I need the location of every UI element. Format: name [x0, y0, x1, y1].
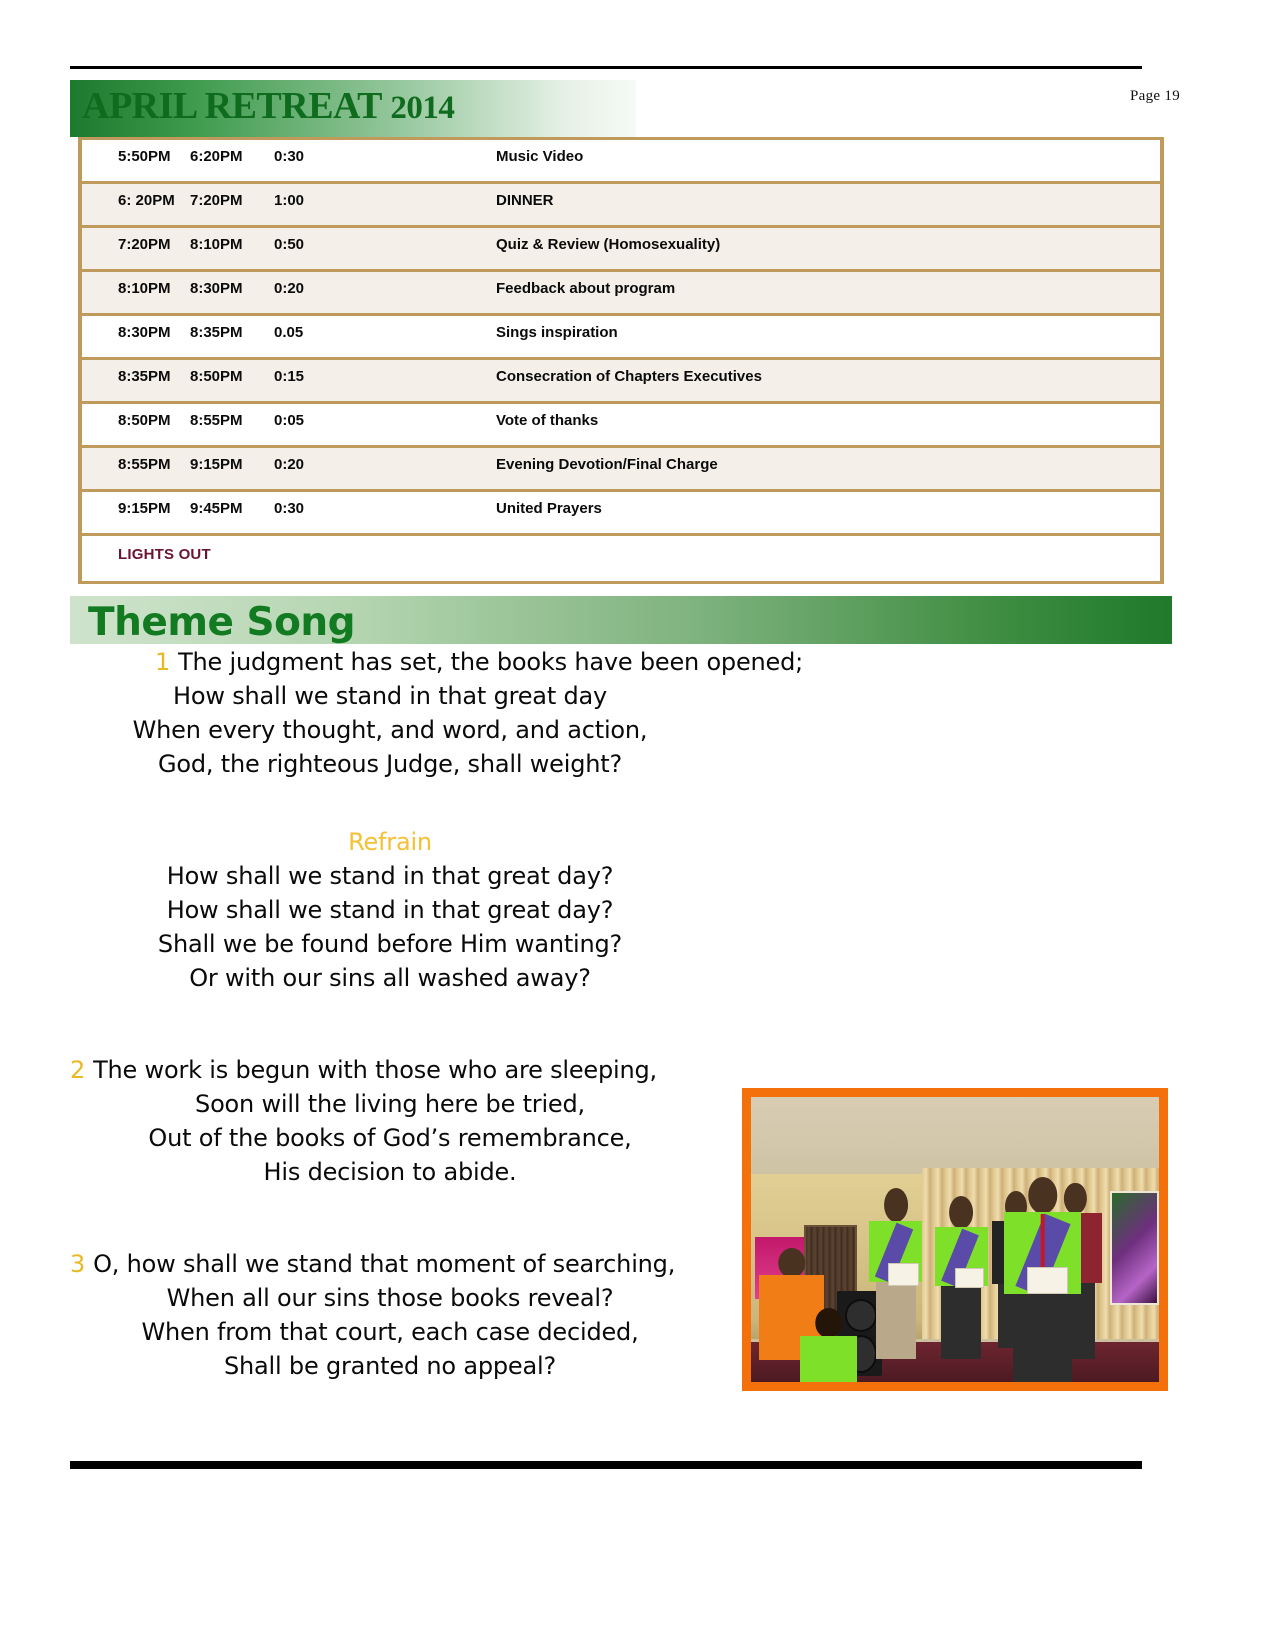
- photo-person-legs: [876, 1282, 916, 1359]
- photo-songsheet: [955, 1268, 985, 1288]
- cell-start-time: 9:15PM: [82, 500, 190, 517]
- photo-person: [800, 1308, 857, 1382]
- cell-duration: 0:50: [274, 236, 496, 253]
- schedule-table: 5:50PM6:20PM0:30Music Video6: 20PM7:20PM…: [78, 137, 1164, 584]
- lights-out-label: LIGHTS OUT: [82, 546, 211, 563]
- table-row: 8:50PM8:55PM0:05Vote of thanks: [82, 404, 1160, 448]
- lyric-line: Shall be granted no appeal?: [60, 1349, 720, 1383]
- cell-start-time: 8:55PM: [82, 456, 190, 473]
- table-row: 5:50PM6:20PM0:30Music Video: [82, 140, 1160, 184]
- photo-person-legs: [941, 1286, 981, 1359]
- table-row: 6: 20PM7:20PM1:00DINNER: [82, 184, 1160, 228]
- footer-rule: [70, 1461, 1142, 1469]
- page-title-main: APRIL RETREAT: [82, 85, 381, 127]
- lyric-text: The judgment has set, the books have bee…: [178, 648, 803, 676]
- cell-end-time: 6:20PM: [190, 148, 274, 165]
- cell-end-time: 7:20PM: [190, 192, 274, 209]
- lyric-line: How shall we stand in that great day?: [60, 893, 720, 927]
- refrain-label: Refrain: [60, 825, 720, 859]
- retreat-photo: [742, 1088, 1168, 1391]
- verse-1: 1The judgment has set, the books have be…: [60, 645, 720, 781]
- lyric-text: O, how shall we stand that moment of sea…: [93, 1250, 675, 1278]
- photo-person-head: [1028, 1177, 1057, 1214]
- cell-end-time: 8:55PM: [190, 412, 274, 429]
- lyric-line: How shall we stand in that great day?: [60, 859, 720, 893]
- cell-duration: 0.05: [274, 324, 496, 341]
- document-page: Page 19 APRIL RETREAT 2014 5:50PM6:20PM0…: [0, 0, 1275, 1650]
- cell-end-time: 8:30PM: [190, 280, 274, 297]
- cell-end-time: 8:35PM: [190, 324, 274, 341]
- lyric-line: Out of the books of God’s remembrance,: [60, 1121, 720, 1155]
- cell-duration: 1:00: [274, 192, 496, 209]
- table-row: 8:35PM8:50PM0:15Consecration of Chapters…: [82, 360, 1160, 404]
- photo-lanyard: [1040, 1214, 1045, 1271]
- table-row-lights-out: LIGHTS OUT: [82, 536, 1160, 581]
- table-row: 9:15PM9:45PM0:30United Prayers: [82, 492, 1160, 536]
- spacer: [60, 995, 720, 1053]
- cell-start-time: 7:20PM: [82, 236, 190, 253]
- cell-duration: 0:05: [274, 412, 496, 429]
- lyric-line: Soon will the living here be tried,: [60, 1087, 720, 1121]
- cell-start-time: 8:10PM: [82, 280, 190, 297]
- lyric-line: His decision to abide.: [60, 1155, 720, 1189]
- lyric-line: Shall we be found before Him wanting?: [60, 927, 720, 961]
- cell-end-time: 8:10PM: [190, 236, 274, 253]
- cell-end-time: 9:45PM: [190, 500, 274, 517]
- lyric-line: When from that court, each case decided,: [60, 1315, 720, 1349]
- verse-number: 2: [70, 1056, 85, 1084]
- page-title: APRIL RETREAT 2014: [82, 84, 454, 128]
- page-title-year: 2014: [390, 90, 454, 126]
- lyric-line: 2The work is begun with those who are sl…: [60, 1053, 720, 1087]
- cell-end-time: 8:50PM: [190, 368, 274, 385]
- page-number: Page 19: [1130, 88, 1180, 105]
- photo-person-head: [884, 1188, 908, 1222]
- cell-start-time: 8:35PM: [82, 368, 190, 385]
- cell-activity: DINNER: [496, 192, 1160, 209]
- cell-duration: 0:20: [274, 280, 496, 297]
- verse-number: 3: [70, 1250, 85, 1278]
- photo-songsheet: [1027, 1267, 1068, 1294]
- cell-activity: Evening Devotion/Final Charge: [496, 456, 1160, 473]
- photo-songsheet: [888, 1263, 919, 1286]
- verse-number: 1: [155, 648, 170, 676]
- cell-start-time: 5:50PM: [82, 148, 190, 165]
- photo-ceiling: [751, 1097, 1159, 1174]
- cell-end-time: 9:15PM: [190, 456, 274, 473]
- cell-activity: United Prayers: [496, 500, 1160, 517]
- cell-activity: Feedback about program: [496, 280, 1160, 297]
- cell-activity: Vote of thanks: [496, 412, 1160, 429]
- verse-3: 3O, how shall we stand that moment of se…: [60, 1247, 720, 1383]
- photo-person-torso: [800, 1336, 857, 1382]
- cell-activity: Sings inspiration: [496, 324, 1160, 341]
- photo-person-foreground: [1004, 1177, 1082, 1382]
- theme-song-lyrics: 1The judgment has set, the books have be…: [60, 645, 720, 1383]
- refrain-block: Refrain How shall we stand in that great…: [60, 825, 720, 995]
- table-row: 8:30PM8:35PM0.05Sings inspiration: [82, 316, 1160, 360]
- lyric-line: God, the righteous Judge, shall weight?: [60, 747, 720, 781]
- lyric-line: 3O, how shall we stand that moment of se…: [60, 1247, 720, 1281]
- photo-person: [869, 1188, 922, 1359]
- lyric-line: When all our sins those books reveal?: [60, 1281, 720, 1315]
- lyric-line: When every thought, and word, and action…: [60, 713, 720, 747]
- cell-duration: 0:20: [274, 456, 496, 473]
- cell-duration: 0:15: [274, 368, 496, 385]
- spacer: [60, 781, 720, 825]
- lyric-line: 1The judgment has set, the books have be…: [60, 645, 720, 679]
- cell-start-time: 8:30PM: [82, 324, 190, 341]
- cell-start-time: 8:50PM: [82, 412, 190, 429]
- table-row: 8:55PM9:15PM0:20Evening Devotion/Final C…: [82, 448, 1160, 492]
- cell-start-time: 6: 20PM: [82, 192, 190, 209]
- photo-person-head: [949, 1196, 973, 1229]
- lyric-line: Or with our sins all washed away?: [60, 961, 720, 995]
- cell-activity: Consecration of Chapters Executives: [496, 368, 1160, 385]
- photo-person: [935, 1194, 988, 1359]
- table-row: 8:10PM8:30PM0:20Feedback about program: [82, 272, 1160, 316]
- photo-person-head: [778, 1248, 805, 1278]
- spacer: [60, 1189, 720, 1247]
- verse-2: 2The work is begun with those who are sl…: [60, 1053, 720, 1189]
- photo-person-head: [815, 1308, 842, 1338]
- photo-right-poster: [1110, 1191, 1159, 1305]
- theme-song-heading: Theme Song: [88, 600, 355, 645]
- lyric-line: How shall we stand in that great day: [60, 679, 720, 713]
- cell-duration: 0:30: [274, 500, 496, 517]
- photo-person-legs: [1013, 1294, 1072, 1382]
- cell-duration: 0:30: [274, 148, 496, 165]
- cell-activity: Quiz & Review (Homosexuality): [496, 236, 1160, 253]
- table-row: 7:20PM8:10PM0:50Quiz & Review (Homosexua…: [82, 228, 1160, 272]
- photo-content: [751, 1097, 1159, 1382]
- header-rule: [70, 66, 1142, 69]
- cell-activity: Music Video: [496, 148, 1160, 165]
- lyric-text: The work is begun with those who are sle…: [93, 1056, 657, 1084]
